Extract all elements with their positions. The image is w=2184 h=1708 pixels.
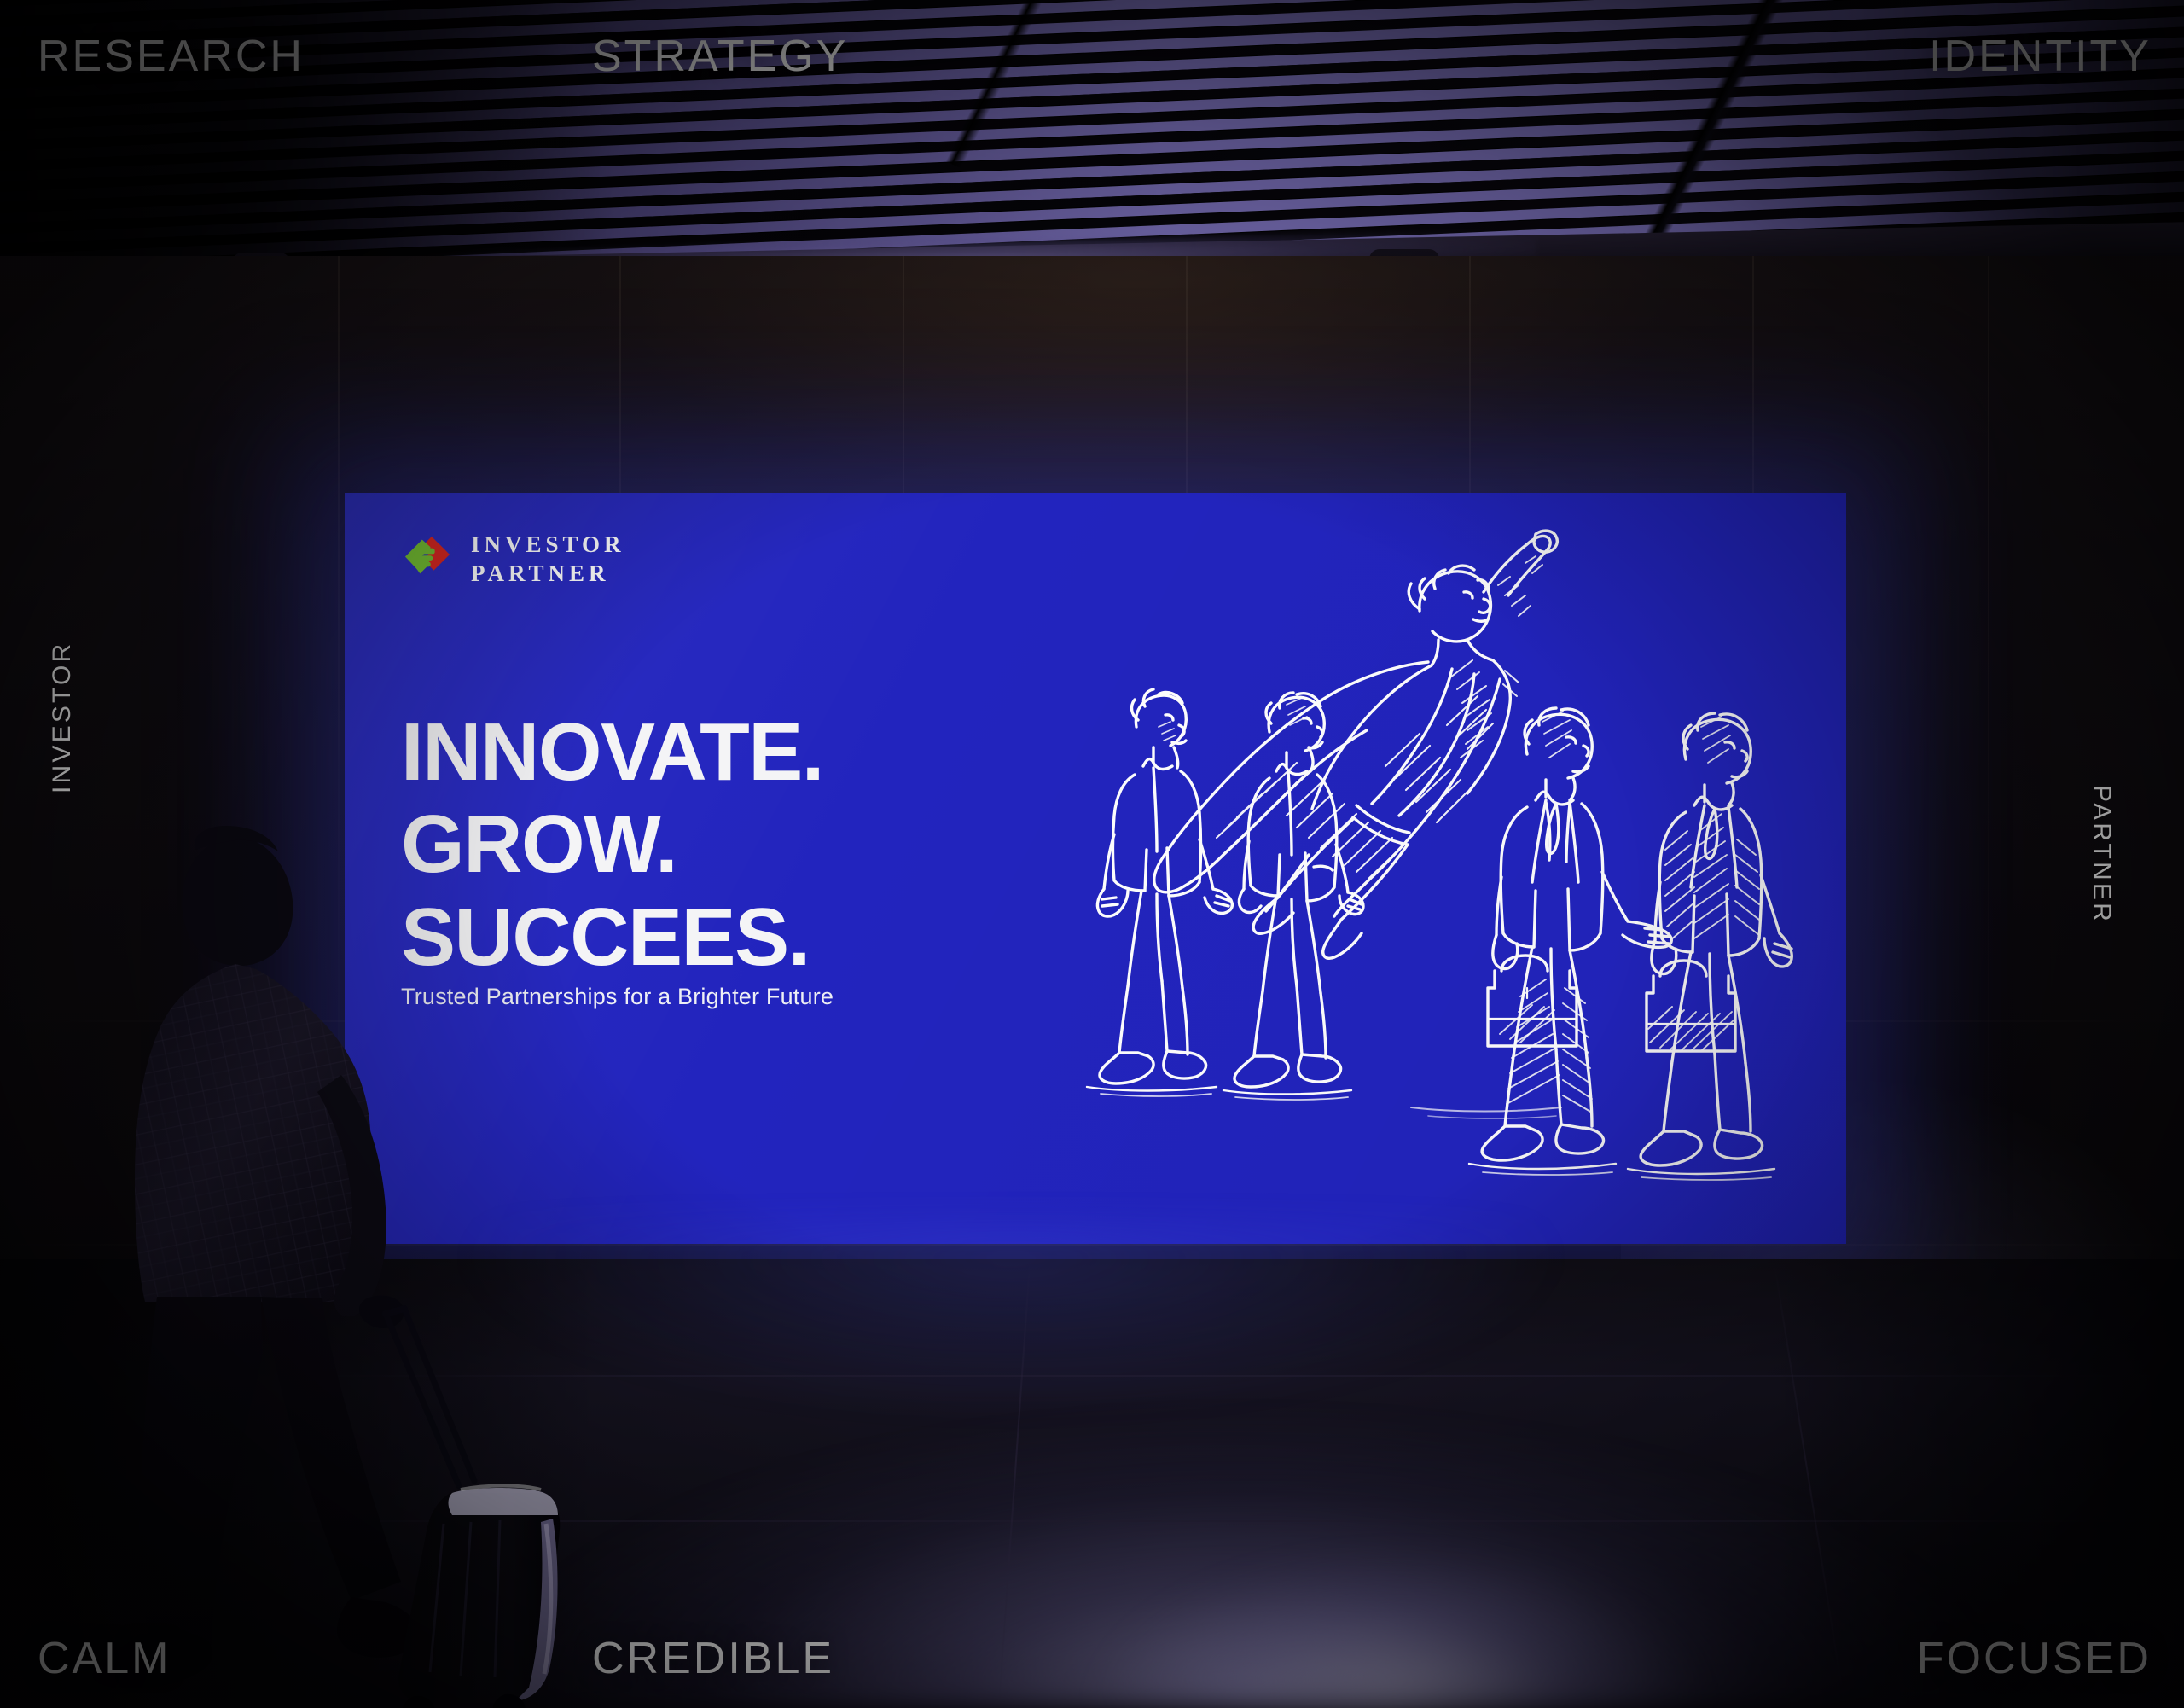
- headline-line-1: INNOVATE.: [401, 706, 823, 799]
- label-focused: FOCUSED: [1917, 1633, 2152, 1684]
- label-research: RESEARCH: [38, 31, 305, 82]
- suitcase-handle: [386, 1309, 474, 1486]
- wall-seam: [1988, 256, 1989, 1263]
- label-investor-vertical: INVESTOR: [48, 642, 77, 793]
- brand-logo[interactable]: INVESTOR PARTNER: [401, 532, 625, 585]
- walking-man-2: [1223, 693, 1363, 1100]
- rolling-suitcase: [398, 1486, 560, 1708]
- walking-man-briefcase-2: [1628, 713, 1792, 1180]
- label-strategy: STRATEGY: [592, 31, 848, 82]
- traveller-legs: [140, 1297, 401, 1647]
- walking-man-briefcase-1: [1469, 708, 1671, 1175]
- businessmen-sketch-illustration: [1053, 510, 1812, 1227]
- logo-text-line2: PARTNER: [471, 562, 625, 585]
- slatted-ceiling: [0, 0, 2184, 256]
- label-calm: CALM: [38, 1633, 171, 1684]
- traveller-silhouette: [85, 819, 631, 1708]
- label-partner-vertical: PARTNER: [2087, 785, 2116, 924]
- walking-man-1: [1087, 689, 1232, 1096]
- handshake-logo-icon: [401, 532, 454, 585]
- label-identity: IDENTITY: [1929, 31, 2152, 82]
- logo-text-line1: INVESTOR: [471, 533, 625, 556]
- traveller-head: [182, 826, 293, 966]
- superhero-ground-shadow: [1411, 1107, 1561, 1112]
- traveller-jacket: [135, 964, 404, 1328]
- billboard-mockup-scene: INVESTOR PARTNER INNOVATE. GROW. SUCCEES…: [0, 0, 2184, 1708]
- label-credible: CREDIBLE: [592, 1633, 834, 1684]
